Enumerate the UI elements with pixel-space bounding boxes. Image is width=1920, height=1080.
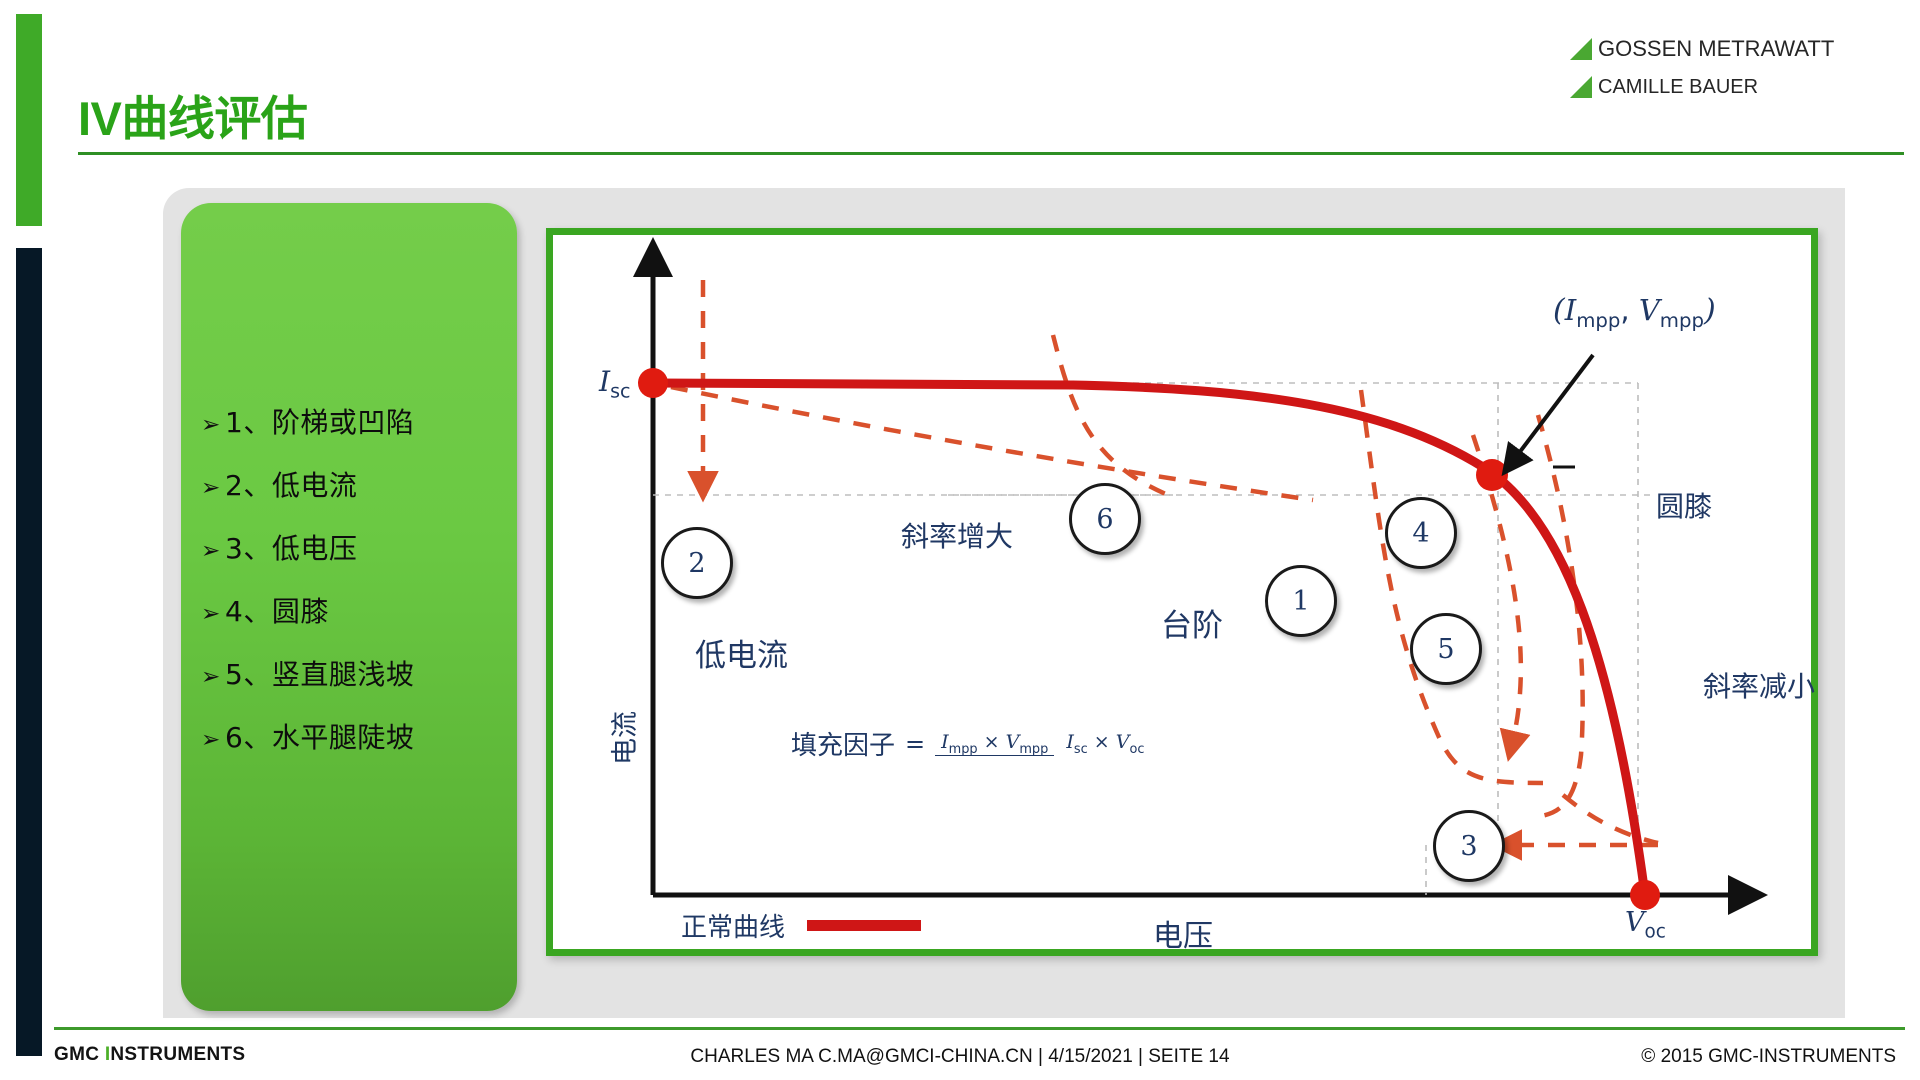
fill-factor-formula: 填充因子 = Impp × Vmpp Isc × Voc <box>791 725 1150 762</box>
legend-color-swatch <box>807 920 921 931</box>
isc-label: Isc <box>599 365 630 403</box>
list-item-label: 6、水平腿陡坡 <box>225 716 414 756</box>
marker-circle-4[interactable]: 4 <box>1385 497 1457 569</box>
fault-list: ➢ 1、阶梯或凹陷 ➢ 2、低电流 ➢ 3、低电压 ➢ 4、圆膝 ➢ 5、竖直腿… <box>201 401 509 779</box>
arrow-bullet-icon: ➢ <box>201 540 225 563</box>
logo-camille-label: CAMILLE BAUER <box>1598 76 1758 99</box>
formula-numerator: Impp × Vmpp <box>935 731 1054 756</box>
chart-legend: 正常曲线 <box>681 907 921 944</box>
marker-circle-3[interactable]: 3 <box>1433 810 1505 882</box>
list-item[interactable]: ➢ 6、水平腿陡坡 <box>201 716 509 756</box>
legend-label: 正常曲线 <box>681 907 785 944</box>
slope-decrease-annotation: 斜率减小 <box>1703 665 1815 705</box>
list-item[interactable]: ➢ 2、低电流 <box>201 464 509 504</box>
list-item-label: 5、竖直腿浅坡 <box>225 653 414 693</box>
y-axis-label: 电流 <box>603 711 642 765</box>
footer-meta: CHARLES MA C.MA@GMCI-CHINA.CN | 4/15/202… <box>0 1046 1920 1068</box>
marker-circle-6[interactable]: 6 <box>1069 483 1141 555</box>
accent-bar-green <box>16 14 42 226</box>
footer-divider <box>54 1027 1905 1030</box>
marker-circle-5[interactable]: 5 <box>1410 613 1482 685</box>
low-current-annotation: 低电流 <box>695 630 788 675</box>
iv-curve-chart: Isc Voc (Impp, Vmpp) 圆膝 斜率增大 斜率减小 低电流 台阶… <box>546 228 1818 956</box>
logo-gossen-metrawatt: GOSSEN METRAWATT <box>1568 30 1898 68</box>
footer-copyright: © 2015 GMC-INSTRUMENTS <box>1641 1046 1896 1068</box>
voc-label: Voc <box>1625 907 1666 942</box>
arrow-bullet-icon: ➢ <box>201 603 225 626</box>
marker-circle-1[interactable]: 1 <box>1265 565 1337 637</box>
corporate-logos: GOSSEN METRAWATT CAMILLE BAUER <box>1568 30 1898 106</box>
chart-text-layer: Isc Voc (Impp, Vmpp) 圆膝 斜率增大 斜率减小 低电流 台阶… <box>553 235 1811 949</box>
list-item-label: 1、阶梯或凹陷 <box>225 401 414 441</box>
arrow-bullet-icon: ➢ <box>201 729 225 752</box>
list-item[interactable]: ➢ 5、竖直腿浅坡 <box>201 653 509 693</box>
page-title: IV曲线评估 <box>78 80 307 149</box>
green-triangle-icon <box>1568 36 1594 62</box>
formula-lhs: 填充因子 <box>791 725 895 762</box>
round-knee-annotation: 圆膝 <box>1656 485 1712 525</box>
green-triangle-icon <box>1568 74 1594 100</box>
list-item-label: 4、圆膝 <box>225 590 329 630</box>
list-item[interactable]: ➢ 4、圆膝 <box>201 590 509 630</box>
mpp-label: (Impp, Vmpp) <box>1553 293 1716 332</box>
formula-denominator: Isc × Voc <box>1060 729 1150 753</box>
step-annotation: 台阶 <box>1161 600 1223 645</box>
formula-fraction: Impp × Vmpp Isc × Voc <box>935 731 1150 757</box>
x-axis-label: 电压 <box>1153 911 1213 955</box>
slope-increase-annotation: 斜率增大 <box>901 515 1013 555</box>
arrow-bullet-icon: ➢ <box>201 477 225 500</box>
logo-camille-bauer: CAMILLE BAUER <box>1568 68 1898 106</box>
title-divider <box>78 152 1904 155</box>
list-item[interactable]: ➢ 3、低电压 <box>201 527 509 567</box>
arrow-bullet-icon: ➢ <box>201 414 225 437</box>
accent-bar-dark <box>16 248 42 1056</box>
formula-equals: = <box>905 730 925 758</box>
arrow-bullet-icon: ➢ <box>201 666 225 689</box>
logo-gossen-label: GOSSEN METRAWATT <box>1598 36 1834 62</box>
fault-list-panel: ➢ 1、阶梯或凹陷 ➢ 2、低电流 ➢ 3、低电压 ➢ 4、圆膝 ➢ 5、竖直腿… <box>181 203 517 1011</box>
list-item[interactable]: ➢ 1、阶梯或凹陷 <box>201 401 509 441</box>
marker-circle-2[interactable]: 2 <box>661 527 733 599</box>
list-item-label: 2、低电流 <box>225 464 357 504</box>
list-item-label: 3、低电压 <box>225 527 357 567</box>
